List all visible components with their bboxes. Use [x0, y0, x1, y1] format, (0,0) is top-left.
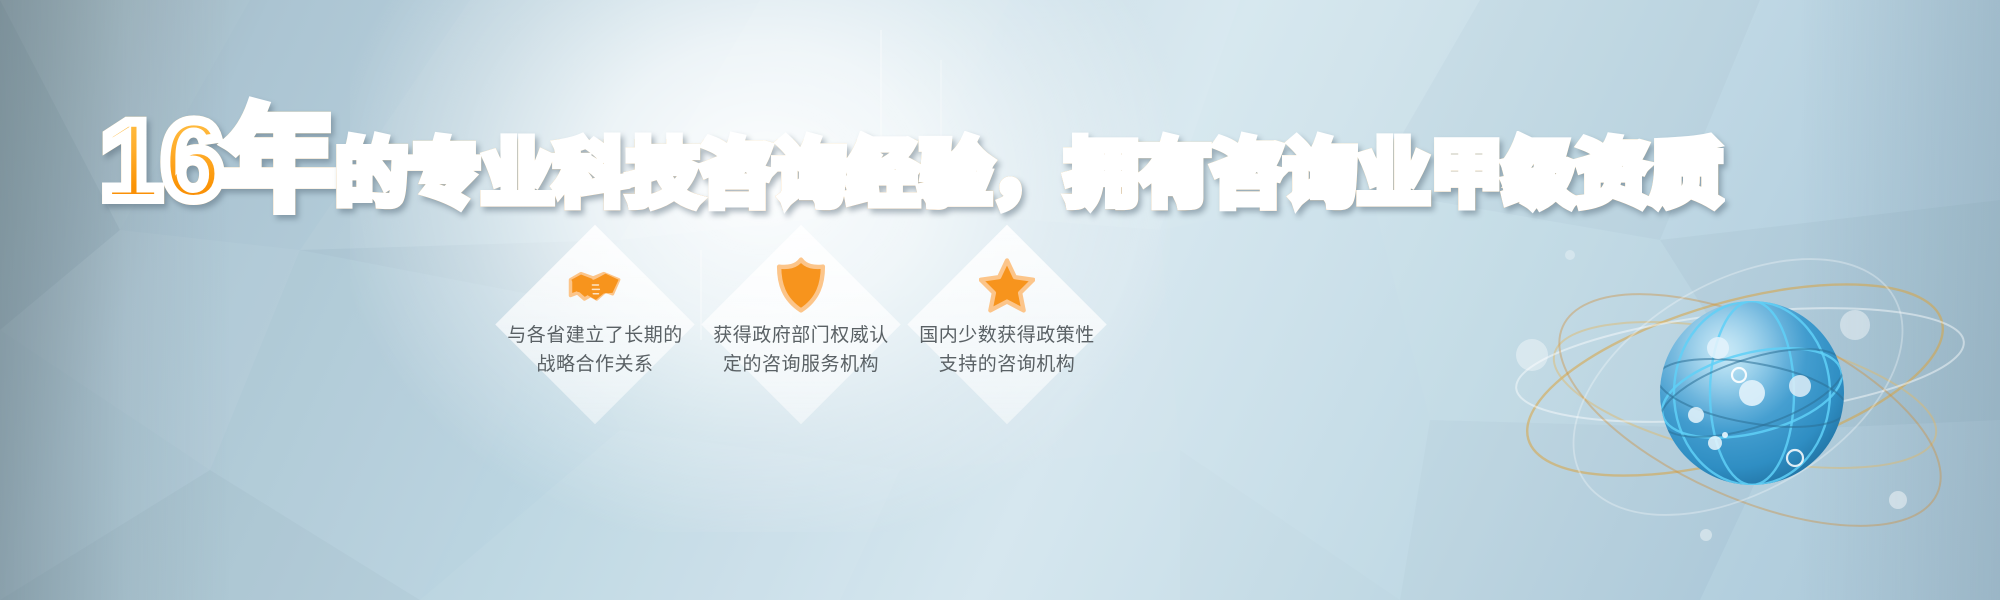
feature-line-1: 国内少数获得政策性 [914, 321, 1100, 350]
headline: 16年 的专业科技咨询经验，拥有咨询业甲级资质 [100, 105, 1723, 217]
globe-network-graphic [1510, 215, 1970, 545]
feature-card-list: 与各省建立了长期的 战略合作关系 获得政府部门权威认 定的咨询服务机构 国内少数… [495, 225, 1113, 425]
feature-card[interactable]: 获得政府部门权威认 定的咨询服务机构 [701, 225, 901, 425]
headline-rest: 的专业科技咨询经验，拥有咨询业甲级资质 [336, 139, 1723, 211]
shield-icon [773, 257, 829, 313]
promo-banner: 16年 的专业科技咨询经验，拥有咨询业甲级资质 [0, 0, 2000, 600]
feature-line-2: 战略合作关系 [502, 350, 688, 379]
feature-card-text: 与各省建立了长期的 战略合作关系 [502, 321, 688, 380]
star-icon [979, 257, 1035, 313]
feature-card-text: 获得政府部门权威认 定的咨询服务机构 [708, 321, 894, 380]
feature-card[interactable]: 国内少数获得政策性 支持的咨询机构 [907, 225, 1107, 425]
handshake-icon [567, 257, 623, 313]
feature-line-2: 定的咨询服务机构 [708, 350, 894, 379]
feature-card[interactable]: 与各省建立了长期的 战略合作关系 [495, 225, 695, 425]
feature-line-1: 与各省建立了长期的 [502, 321, 688, 350]
feature-line-1: 获得政府部门权威认 [708, 321, 894, 350]
headline-years: 16年 [100, 105, 334, 217]
feature-line-2: 支持的咨询机构 [914, 350, 1100, 379]
feature-card-text: 国内少数获得政策性 支持的咨询机构 [914, 321, 1100, 380]
